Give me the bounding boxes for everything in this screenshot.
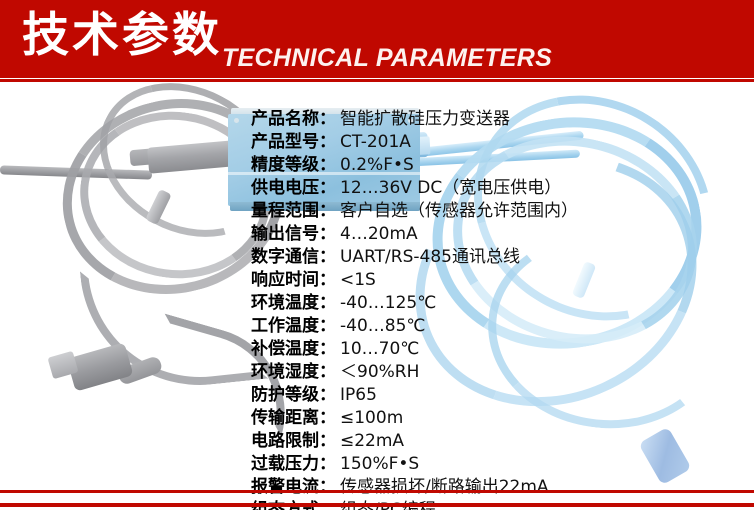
spec-label: 产品型号： xyxy=(0,131,336,154)
spec-row: 防护等级：IP65 xyxy=(0,384,754,407)
spec-row: 产品型号：CT-201A xyxy=(0,131,754,154)
spec-row: 响应时间：<1S xyxy=(0,269,754,292)
spec-label: 产品名称： xyxy=(0,108,336,131)
spec-value: -40…125℃ xyxy=(340,292,436,315)
spec-value: UART/RS-485通讯总线 xyxy=(340,246,520,269)
spec-row: 传输距离：≤100m xyxy=(0,407,754,430)
spec-label: 量程范围： xyxy=(0,200,336,223)
spec-row: 过载压力：150%F•S xyxy=(0,453,754,476)
spec-label: 数字通信： xyxy=(0,246,336,269)
spec-value: 4…20mA xyxy=(340,223,418,246)
spec-label: 防护等级： xyxy=(0,384,336,407)
page-title: 技术参数 xyxy=(22,7,222,65)
spec-value: 客户自选（传感器允许范围内） xyxy=(340,200,578,223)
spec-label: 输出信号： xyxy=(0,223,336,246)
spec-value: ≤100m xyxy=(340,407,403,430)
spec-label: 精度等级： xyxy=(0,154,336,177)
spec-value: 12…36V DC（宽电压供电） xyxy=(340,177,561,200)
spec-label: 过载压力： xyxy=(0,453,336,476)
spec-value: ＜90%RH xyxy=(340,361,419,384)
spec-row: 工作温度：-40…85℃ xyxy=(0,315,754,338)
spec-row: 数字通信：UART/RS-485通讯总线 xyxy=(0,246,754,269)
spec-row: 精度等级：0.2%F•S xyxy=(0,154,754,177)
spec-row: 量程范围：客户自选（传感器允许范围内） xyxy=(0,200,754,223)
spec-label: 供电电压： xyxy=(0,177,336,200)
specification-list: 产品名称：智能扩散硅压力变送器产品型号：CT-201A精度等级：0.2%F•S供… xyxy=(0,108,754,510)
footer-rule-bottom xyxy=(0,503,754,507)
page-subtitle: TECHNICAL PARAMETERS xyxy=(222,43,552,73)
spec-label: 响应时间： xyxy=(0,269,336,292)
spec-row: 补偿温度：10…70℃ xyxy=(0,338,754,361)
technical-parameters-page: 技术参数 TECHNICAL PARAMETERS xyxy=(0,0,754,510)
spec-row: 供电电压：12…36V DC（宽电压供电） xyxy=(0,177,754,200)
spec-value: 智能扩散硅压力变送器 xyxy=(340,108,510,131)
spec-label: 传输距离： xyxy=(0,407,336,430)
spec-value: 150%F•S xyxy=(340,453,419,476)
spec-value: 传感器损坏/断路输出22mA xyxy=(340,476,549,499)
spec-row: 环境湿度：＜90%RH xyxy=(0,361,754,384)
spec-label: 环境温度： xyxy=(0,292,336,315)
spec-value: 10…70℃ xyxy=(340,338,419,361)
spec-label: 工作温度： xyxy=(0,315,336,338)
spec-label: 环境湿度： xyxy=(0,361,336,384)
spec-value: IP65 xyxy=(340,384,377,407)
header-banner: 技术参数 TECHNICAL PARAMETERS xyxy=(0,0,754,78)
spec-value: <1S xyxy=(340,269,376,292)
spec-label: 报警电流： xyxy=(0,476,336,499)
spec-row: 电路限制：≤22mA xyxy=(0,430,754,453)
spec-row: 环境温度：-40…125℃ xyxy=(0,292,754,315)
footer-rule-top xyxy=(0,490,754,493)
spec-value: CT-201A xyxy=(340,131,411,154)
spec-row: 报警电流：传感器损坏/断路输出22mA xyxy=(0,476,754,499)
spec-value: -40…85℃ xyxy=(340,315,426,338)
spec-value: 0.2%F•S xyxy=(340,154,414,177)
spec-row: 产品名称：智能扩散硅压力变送器 xyxy=(0,108,754,131)
spec-label: 电路限制： xyxy=(0,430,336,453)
spec-value: ≤22mA xyxy=(340,430,404,453)
spec-row: 输出信号：4…20mA xyxy=(0,223,754,246)
spec-label: 补偿温度： xyxy=(0,338,336,361)
